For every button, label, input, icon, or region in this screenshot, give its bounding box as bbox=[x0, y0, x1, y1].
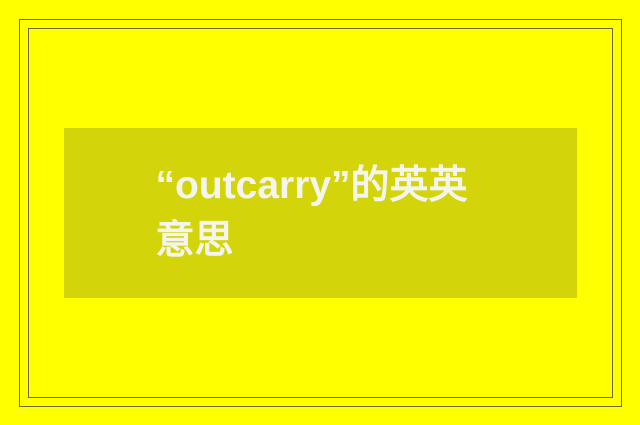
page-title: “outcarry”的英英意思 bbox=[156, 158, 486, 269]
title-card: “outcarry”的英英意思 bbox=[64, 128, 577, 298]
page-canvas: “outcarry”的英英意思 bbox=[0, 0, 640, 425]
